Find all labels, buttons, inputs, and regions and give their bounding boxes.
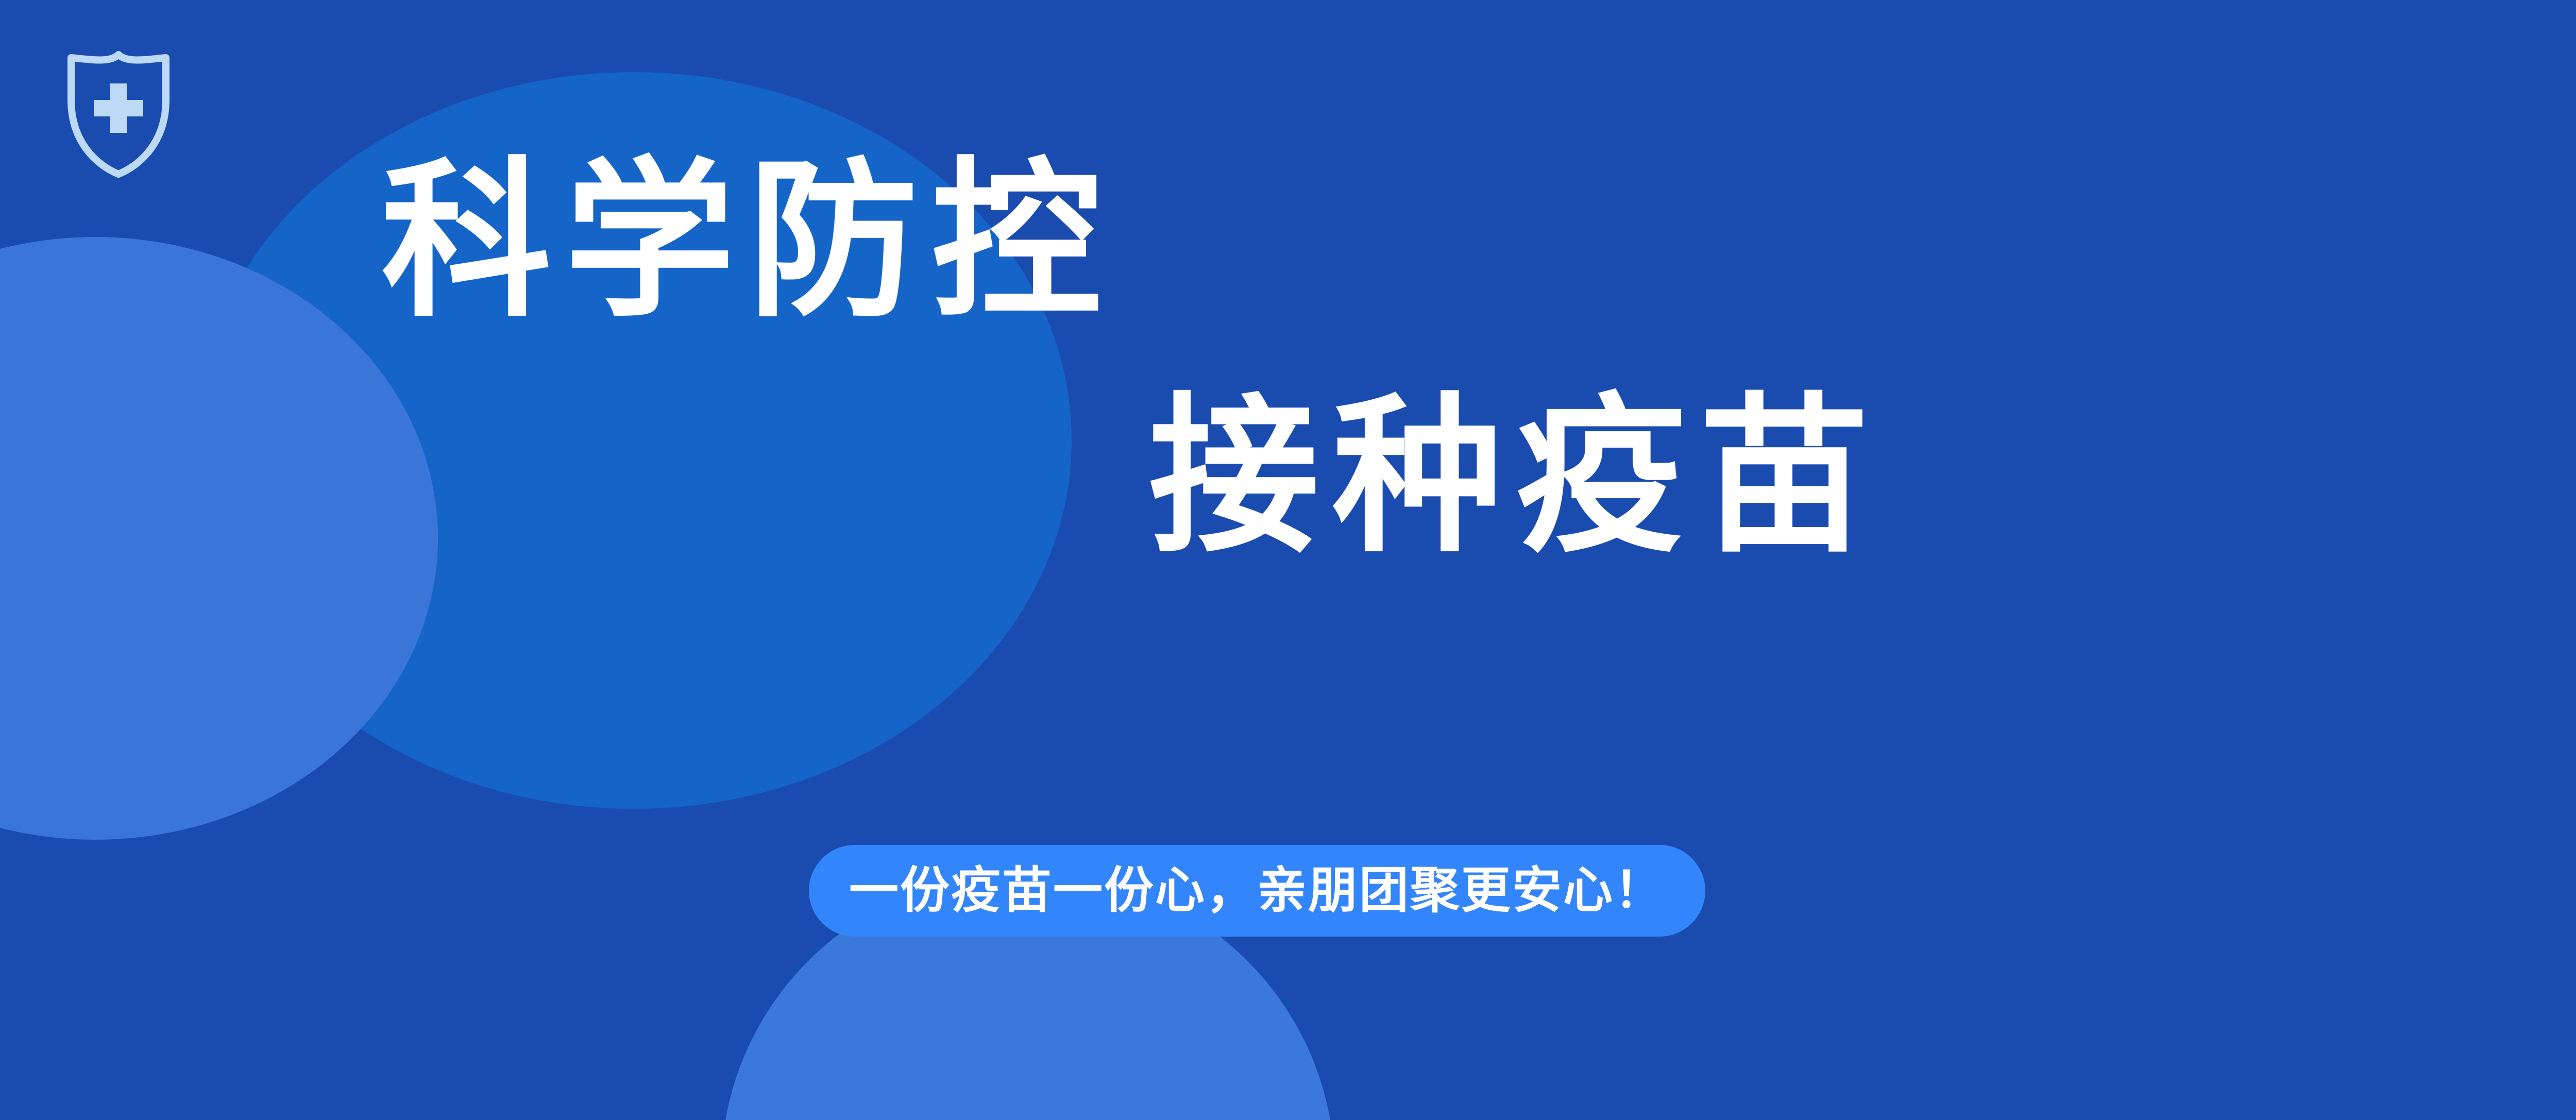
vaccination-awareness-banner: 科学防控 接种疫苗 一份疫苗一份心，亲朋团聚更安心！ bbox=[0, 0, 2576, 1120]
headline-line-2: 接种疫苗 bbox=[1149, 390, 2267, 564]
doctor-monitor-illustration bbox=[2267, 0, 2576, 1120]
headline-block: 科学防控 接种疫苗 bbox=[0, 155, 2267, 563]
slogan-badge: 一份疫苗一份心，亲朋团聚更安心！ bbox=[809, 845, 1705, 937]
headline-line-1: 科学防控 bbox=[381, 155, 2267, 328]
slogan-text: 一份疫苗一份心，亲朋团聚更安心！ bbox=[849, 863, 1665, 918]
